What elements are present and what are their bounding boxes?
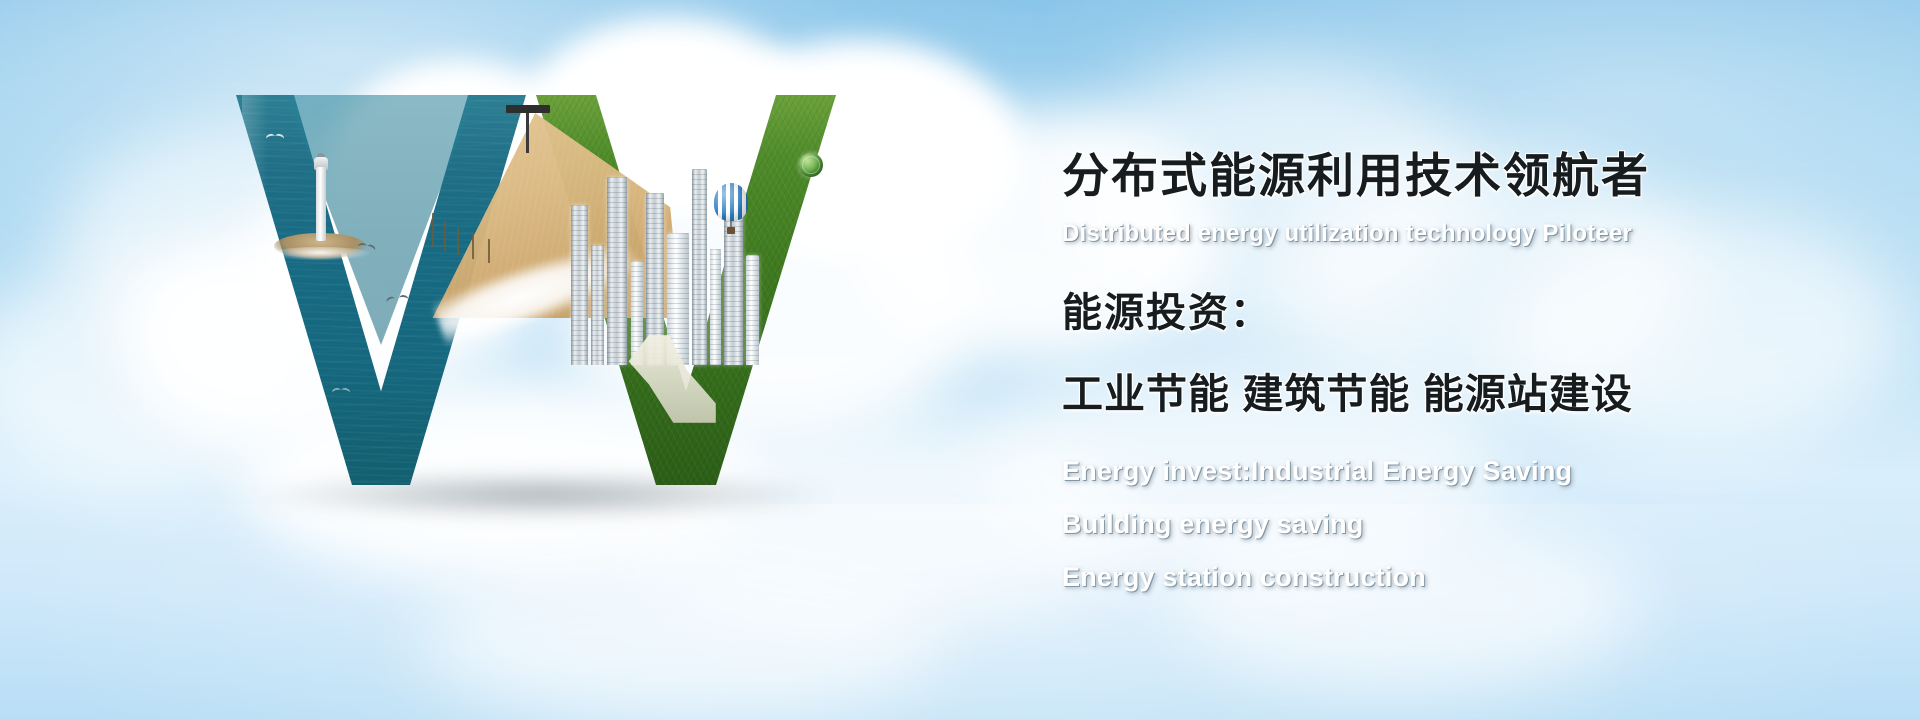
service-en-line-1: Energy invest:Industrial Energy Saving bbox=[1062, 458, 1782, 485]
services-cn: 工业节能 建筑节能 能源站建设 bbox=[1062, 360, 1782, 420]
edge-highlight bbox=[242, 95, 268, 485]
green-globe-icon bbox=[799, 153, 823, 177]
lighthouse-tower bbox=[316, 167, 326, 241]
section-title-cn: 能源投资： bbox=[1062, 280, 1782, 338]
balloon-basket bbox=[727, 227, 735, 234]
skyscraper-icon bbox=[692, 169, 707, 365]
seagull-icon bbox=[266, 131, 284, 140]
skyscraper-icon bbox=[607, 177, 627, 365]
seagull-icon bbox=[385, 292, 408, 304]
headline-cn: 分布式能源利用技术领航者 bbox=[1062, 150, 1782, 202]
pier-post-icon bbox=[488, 239, 490, 263]
seagull-icon bbox=[332, 385, 350, 394]
skyscraper-icon bbox=[710, 249, 721, 365]
skyscraper-icon bbox=[591, 245, 604, 365]
pier-post-icon bbox=[472, 233, 474, 259]
skyscraper-icon bbox=[571, 205, 588, 365]
subtitle-en: Distributed energy utilization technolog… bbox=[1062, 220, 1782, 248]
hot-air-balloon-icon bbox=[714, 183, 748, 235]
pier-post-icon bbox=[444, 221, 446, 251]
pier-post-icon bbox=[432, 213, 434, 247]
banner-copy: 分布式能源利用技术领航者 Distributed energy utilizat… bbox=[1062, 150, 1782, 591]
banner-canvas: 分布式能源利用技术领航者 Distributed energy utilizat… bbox=[0, 0, 1920, 720]
service-en-line-3: Energy station construction bbox=[1062, 564, 1782, 591]
balloon-envelope bbox=[714, 183, 748, 221]
w-logo-artwork bbox=[236, 95, 856, 515]
lighthouse-icon bbox=[312, 153, 330, 241]
pier-post-icon bbox=[457, 227, 459, 255]
wind-vane-icon bbox=[526, 109, 529, 153]
service-en-line-2: Building energy saving bbox=[1062, 511, 1782, 538]
skyscraper-icon bbox=[746, 255, 759, 365]
cloud-puff bbox=[420, 560, 940, 720]
